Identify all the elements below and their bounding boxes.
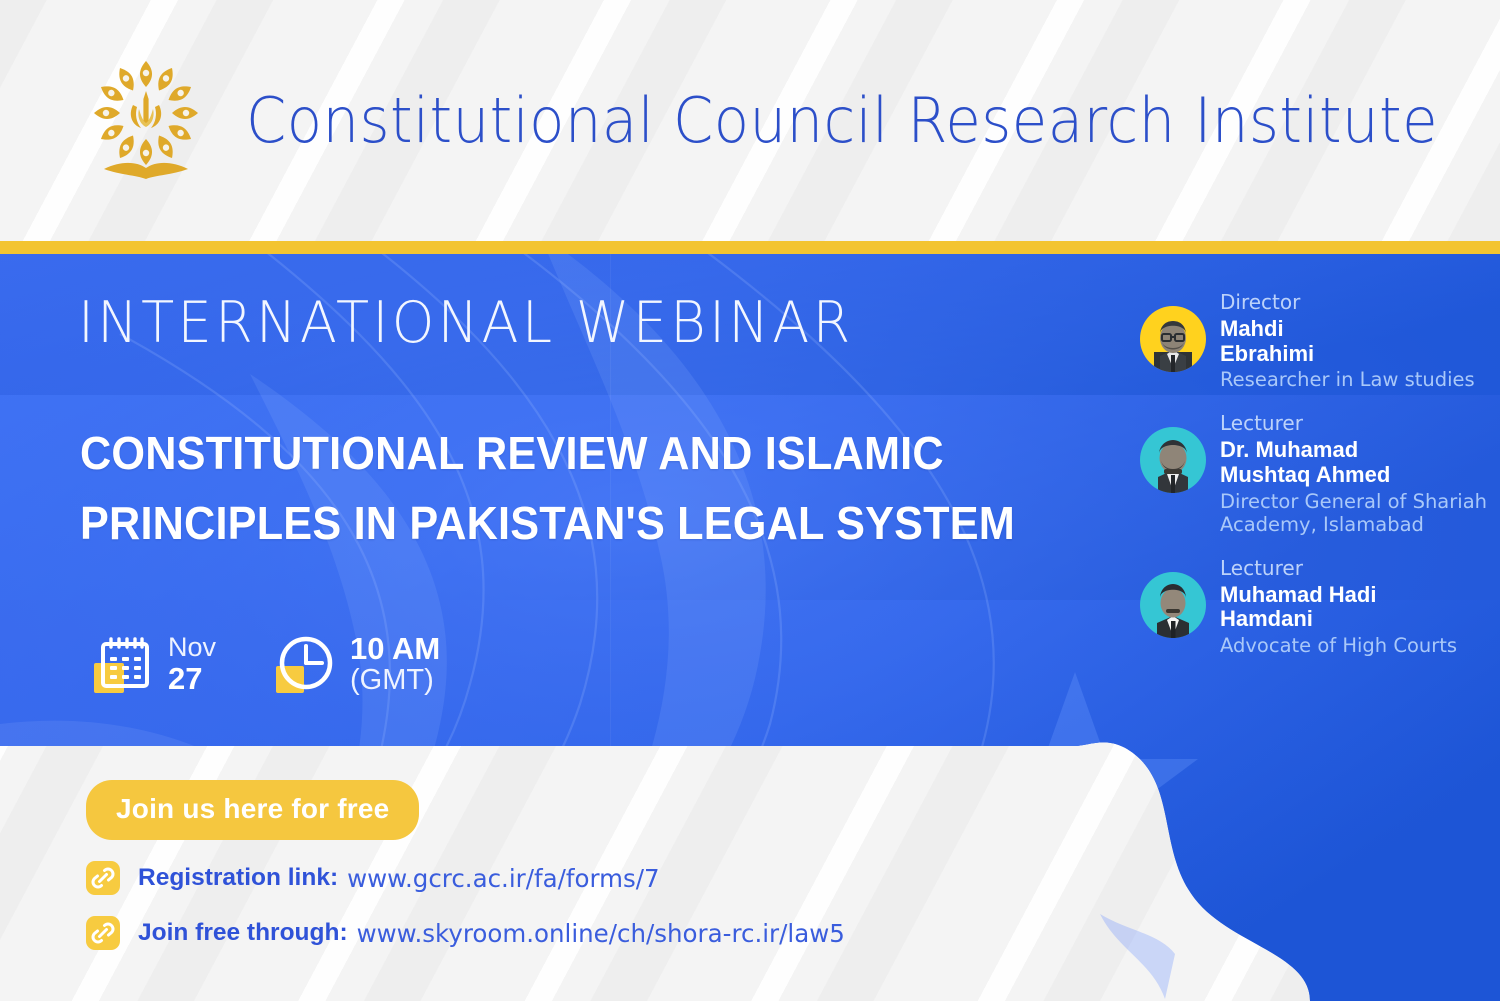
speaker-name: Muhamad Hadi Hamdani [1220,583,1457,632]
speaker-list: Director Mahdi Ebrahimi Researcher in La… [1140,290,1490,677]
registration-link-row[interactable]: Registration link: www.gcrc.ac.ir/fa/for… [86,861,1100,895]
event-time-text: 10 AM (GMT) [350,632,440,697]
speaker-portrait-icon [1140,306,1206,372]
avatar [1140,572,1206,638]
calendar-icon [92,633,154,695]
speaker-affiliation-line-1: Director General of Shariah [1220,490,1487,513]
gold-divider [0,241,1500,254]
speaker-name-line-2: Mushtaq Ahmed [1220,463,1487,488]
avatar [1140,427,1206,493]
speaker-card: Lecturer Muhamad Hadi Hamdani Advocate o… [1140,556,1490,657]
join-link-label: Join free through: [138,919,348,947]
speaker-info: Lecturer Muhamad Hadi Hamdani Advocate o… [1220,556,1457,657]
speaker-name-line-1: Dr. Muhamad [1220,438,1487,463]
event-meta: Nov 27 10 AM (G [92,632,440,697]
speaker-name-line-1: Mahdi [1220,317,1475,342]
speaker-name-line-1: Muhamad Hadi [1220,583,1457,608]
speaker-name: Mahdi Ebrahimi [1220,317,1475,366]
speaker-affiliation: Researcher in Law studies [1220,368,1475,391]
page-title: Constitutional Council Research Institut… [246,84,1438,157]
registration-link-url[interactable]: www.gcrc.ac.ir/fa/forms/7 [347,864,660,893]
speaker-role: Lecturer [1220,556,1457,581]
speaker-name-line-2: Hamdani [1220,607,1457,632]
clock-icon [274,633,336,695]
event-date-text: Nov 27 [168,633,216,696]
constitutional-council-emblem-icon [86,51,206,191]
join-link-url[interactable]: www.skyroom.online/ch/shora-rc.ir/law5 [357,919,845,948]
event-date: Nov 27 [92,633,216,696]
speaker-affiliation: Director General of Shariah Academy, Isl… [1220,490,1487,536]
speaker-affiliation-line-1: Researcher in Law studies [1220,368,1475,391]
hero-title: CONSTITUTIONAL REVIEW AND ISLAMIC PRINCI… [80,418,1010,558]
speaker-affiliation-line-2: Academy, Islamabad [1220,513,1487,536]
speaker-affiliation-line-1: Advocate of High Courts [1220,634,1457,657]
join-link-row[interactable]: Join free through: www.skyroom.online/ch… [86,916,1100,950]
join-free-button[interactable]: Join us here for free [86,780,419,840]
poster-header: Constitutional Council Research Institut… [0,0,1500,241]
chain-link-icon [86,916,120,950]
speaker-name-line-2: Ebrahimi [1220,342,1475,367]
event-timezone: (GMT) [350,665,440,696]
webinar-poster: Constitutional Council Research Institut… [0,0,1500,1001]
speaker-portrait-icon [1140,427,1206,493]
hero-title-line-2: PRINCIPLES IN PAKISTAN'S LEGAL SYSTEM [80,488,954,558]
speaker-info: Lecturer Dr. Muhamad Mushtaq Ahmed Direc… [1220,411,1487,535]
speaker-info: Director Mahdi Ebrahimi Researcher in La… [1220,290,1475,391]
chain-link-icon [86,861,120,895]
registration-link-label: Registration link: [138,864,338,892]
speaker-card: Director Mahdi Ebrahimi Researcher in La… [1140,290,1490,391]
speaker-role: Director [1220,290,1475,315]
event-day: 27 [168,662,216,695]
event-time: 10 AM (GMT) [274,632,440,697]
avatar [1140,306,1206,372]
speaker-role: Lecturer [1220,411,1487,436]
speaker-card: Lecturer Dr. Muhamad Mushtaq Ahmed Direc… [1140,411,1490,535]
speaker-name: Dr. Muhamad Mushtaq Ahmed [1220,438,1487,487]
hero-title-line-1: CONSTITUTIONAL REVIEW AND ISLAMIC [80,418,954,488]
hero-kicker: INTERNATIONAL WEBINAR [78,290,854,356]
speaker-portrait-icon [1140,572,1206,638]
event-month: Nov [168,633,216,662]
poster-footer: Join us here for free Registration link:… [0,780,1100,950]
speaker-affiliation: Advocate of High Courts [1220,634,1457,657]
event-time-value: 10 AM [350,632,440,665]
